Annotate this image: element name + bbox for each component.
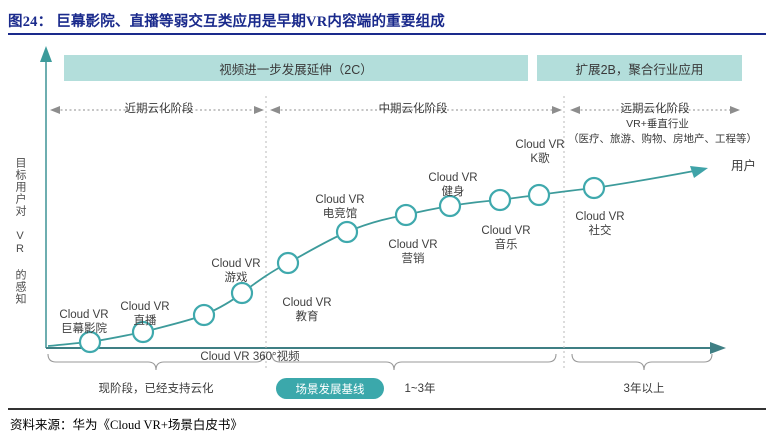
node-label-esports-arena: Cloud VR 电竞馆 <box>315 193 364 222</box>
node-label-karaoke: Cloud VR K歌 <box>515 138 564 167</box>
phase-label-mid-term: 中期云化阶段 <box>268 100 558 116</box>
bottom-label-current-stage: 现阶段，已经支持云化 <box>99 380 214 396</box>
y-axis <box>40 46 52 348</box>
bottom-braces <box>48 354 712 370</box>
node-label-en: Cloud VR <box>575 210 624 224</box>
node-label-en: Cloud VR <box>428 171 477 185</box>
node-marker <box>194 305 214 325</box>
node-label-en: Cloud VR <box>200 351 249 363</box>
node-label-live-stream: Cloud VR 直播 <box>120 300 169 329</box>
node-label-en: Cloud VR <box>59 308 108 322</box>
node-label-360-video: Cloud VR 360°视频 <box>200 350 299 364</box>
node-label-cn: 健身 <box>428 185 477 199</box>
node-label-cn: 教育 <box>282 310 331 324</box>
title-divider <box>8 33 766 35</box>
x-axis-end-label: 用户 <box>731 155 756 174</box>
node-label-en: Cloud VR <box>282 296 331 310</box>
node-label-en: Cloud VR <box>388 238 437 252</box>
node-label-en: Cloud VR <box>315 193 364 207</box>
vertical-industry-line1: VR+垂直行业 <box>570 116 745 131</box>
vertical-industry-line2: （医疗、旅游、购物、房地产、工程等） <box>560 131 765 146</box>
node-label-marketing: Cloud VR 营销 <box>388 238 437 267</box>
phase-label-near-term: 近期云化阶段 <box>64 100 254 116</box>
node-label-cn: K歌 <box>515 152 564 166</box>
node-marker <box>529 185 549 205</box>
chart-svg <box>0 38 774 406</box>
node-label-en: Cloud VR <box>211 257 260 271</box>
node-label-cn: 360°视频 <box>253 351 300 363</box>
node-label-en: Cloud VR <box>120 300 169 314</box>
node-label-fitness: Cloud VR 健身 <box>428 171 477 200</box>
node-label-cn: 游戏 <box>211 271 260 285</box>
baseline-pill: 场景发展基线 <box>276 378 384 399</box>
node-label-game: Cloud VR 游戏 <box>211 257 260 286</box>
node-label-social: Cloud VR 社交 <box>575 210 624 239</box>
node-marker <box>490 190 510 210</box>
phase-label-far-term: 远期云化阶段 <box>570 100 740 116</box>
page-title: 图24： 巨幕影院、直播等弱交互类应用是早期VR内容端的重要组成 <box>8 10 766 31</box>
node-label-cn: 营销 <box>388 252 437 266</box>
chart-canvas: 视频进一步发展延伸（2C） 扩展2B，聚合行业应用 近期云化阶段 中期云化阶段 … <box>0 38 774 406</box>
node-label-cn: 巨幕影院 <box>59 322 108 336</box>
node-marker <box>232 283 252 303</box>
node-label-cn: 直播 <box>120 314 169 328</box>
node-label-en: Cloud VR <box>481 224 530 238</box>
node-marker <box>396 205 416 225</box>
x-axis <box>46 342 726 354</box>
node-label-en: Cloud VR <box>515 138 564 152</box>
banner-business-phase: 扩展2B，聚合行业应用 <box>537 55 742 81</box>
footer-divider <box>8 408 766 410</box>
node-label-education: Cloud VR 教育 <box>282 296 331 325</box>
node-marker <box>337 222 357 242</box>
node-label-cn: 音乐 <box>481 238 530 252</box>
banner-consumer-phase: 视频进一步发展延伸（2C） <box>64 55 528 81</box>
node-marker <box>278 253 298 273</box>
source-note: 资料来源：华为《Cloud VR+场景白皮书》 <box>10 414 243 433</box>
y-axis-label: 目标用户对 VR 的感知 <box>10 126 28 336</box>
bottom-label-range-mid: 1~3年 <box>404 380 435 396</box>
bottom-label-range-far: 3年以上 <box>624 380 665 396</box>
node-label-music: Cloud VR 音乐 <box>481 224 530 253</box>
node-marker <box>584 178 604 198</box>
node-label-giant-cinema: Cloud VR 巨幕影院 <box>59 308 108 337</box>
node-label-cn: 社交 <box>575 224 624 238</box>
node-label-cn: 电竞馆 <box>315 207 364 221</box>
